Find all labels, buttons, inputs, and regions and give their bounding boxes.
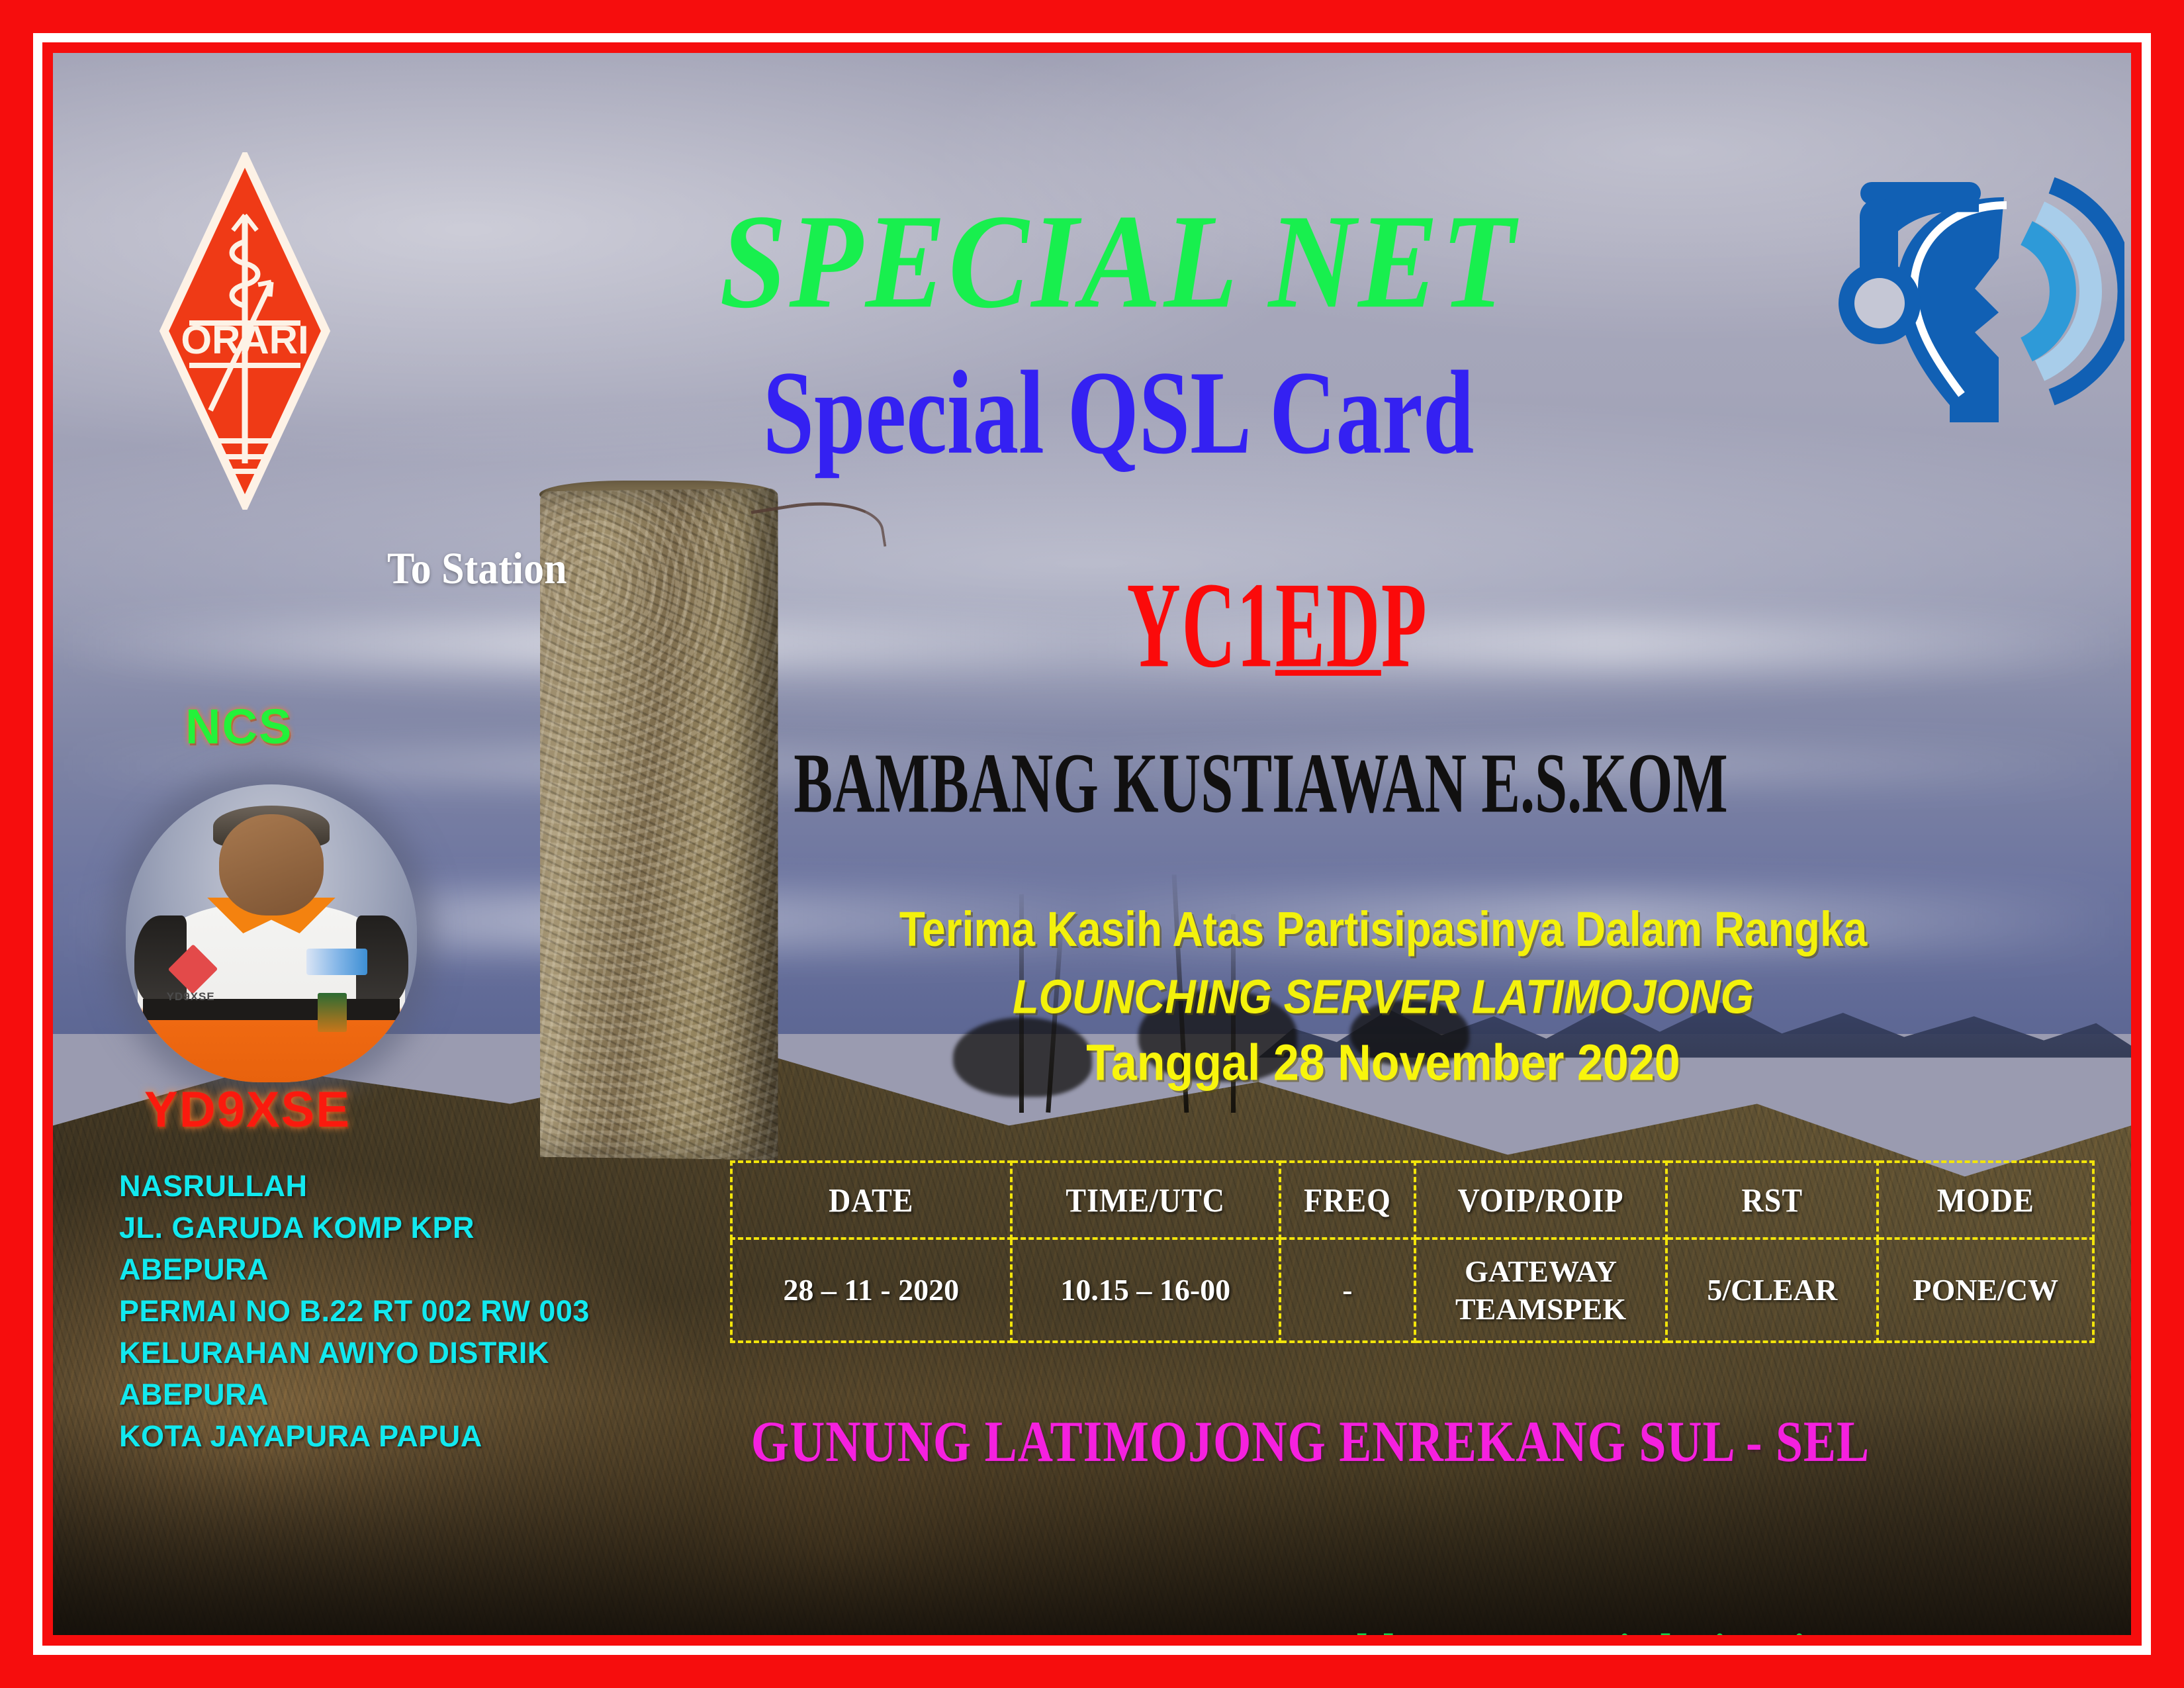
address-line: ABEPURA — [119, 1374, 702, 1415]
address-line: NASRULLAH — [119, 1165, 702, 1207]
photo-id-card — [318, 993, 347, 1032]
page-title-special-net: SPECIAL NET — [516, 195, 1721, 330]
event-name: LOUNCHING SERVER LATIMOJONG — [767, 972, 1999, 1021]
subtitle-special-qsl-card: Special QSL Card — [553, 353, 1685, 473]
address-line: KOTA JAYAPURA PAPUA — [119, 1415, 702, 1457]
footer-web-address: Address : amatir.latimojong.com — [1308, 1621, 1978, 1635]
address-line: KELURAHAN AWIYO DISTRIK — [119, 1332, 702, 1374]
mailing-address: NASRULLAH JL. GARUDA KOMP KPR ABEPURA PE… — [119, 1165, 702, 1457]
radio-operator-headset-logo — [1833, 159, 2124, 424]
column-header-voip-roip: VOIP/ROIP — [1415, 1158, 1666, 1243]
address-line: JL. GARUDA KOMP KPR — [119, 1207, 702, 1248]
location-caption: GUNUNG LATIMOJONG ENREKANG SUL - SEL — [701, 1413, 1921, 1471]
photo-shirt-callsign-label: YD9XSE — [167, 990, 215, 1004]
callsign-underlined-part: ED — [1275, 557, 1381, 693]
column-header-freq: FREQ — [1280, 1158, 1415, 1243]
card-inner-red-border: ORARI — [42, 42, 2142, 1646]
column-header-rst: RST — [1666, 1158, 1878, 1243]
photo-person-face — [219, 814, 324, 915]
table-header-row: DATE TIME/UTC FREQ VOIP/ROIP RST MODE — [731, 1162, 2093, 1239]
table-row: 28 – 11 - 2020 10.15 – 16-00 - GATEWAY T… — [731, 1239, 2093, 1342]
column-header-mode: MODE — [1878, 1158, 2093, 1243]
ncs-operator-photo: YD9XSE — [126, 784, 417, 1082]
event-date-line: Tanggal 28 November 2020 — [754, 1037, 2012, 1088]
cell-rst: 5/CLEAR — [1666, 1239, 1878, 1342]
orari-logo-text: ORARI — [181, 318, 308, 362]
cell-time-utc: 10.15 – 16-00 — [1011, 1239, 1280, 1342]
station-callsign: YC1EDP — [893, 563, 1662, 686]
cell-date: 28 – 11 - 2020 — [731, 1239, 1011, 1342]
footer-motto: "AMATIR RADIO ADALAH PROGRESIVE" — [165, 1621, 1109, 1635]
column-header-time-utc: TIME/UTC — [1011, 1158, 1280, 1243]
qsl-card: ORARI — [0, 0, 2184, 1688]
to-station-label: To Station — [387, 543, 567, 594]
cell-voip-roip-line2: TEAMSPEK — [1417, 1290, 1664, 1329]
cell-mode: PONE/CW — [1878, 1239, 2093, 1342]
callsign-prefix: YC1 — [1127, 557, 1275, 693]
card-background-photograph: ORARI — [53, 53, 2131, 1635]
callsign-suffix: P — [1381, 557, 1428, 693]
operator-name: BAMBANG KUSTIAWAN E.S.KOM — [710, 741, 1812, 826]
qso-log-table: DATE TIME/UTC FREQ VOIP/ROIP RST MODE 28… — [730, 1160, 2095, 1343]
cell-voip-roip: GATEWAY TEAMSPEK — [1415, 1239, 1666, 1342]
card-white-border: ORARI — [33, 33, 2151, 1655]
column-header-date: DATE — [731, 1158, 1011, 1243]
photo-uniform-badge — [306, 949, 367, 976]
card-content-layer: ORARI — [53, 53, 2131, 1635]
cell-freq: - — [1280, 1239, 1415, 1342]
ncs-callsign: YD9XSE — [144, 1081, 351, 1139]
cell-voip-roip-line1: GATEWAY — [1417, 1252, 1664, 1291]
address-line: PERMAI NO B.22 RT 002 RW 003 — [119, 1290, 702, 1332]
thanks-message: Terima Kasih Atas Partisipasinya Dalam R… — [774, 904, 1993, 953]
ncs-label: NCS — [185, 698, 293, 755]
orari-logo: ORARI — [159, 152, 331, 510]
address-line: ABEPURA — [119, 1248, 702, 1290]
